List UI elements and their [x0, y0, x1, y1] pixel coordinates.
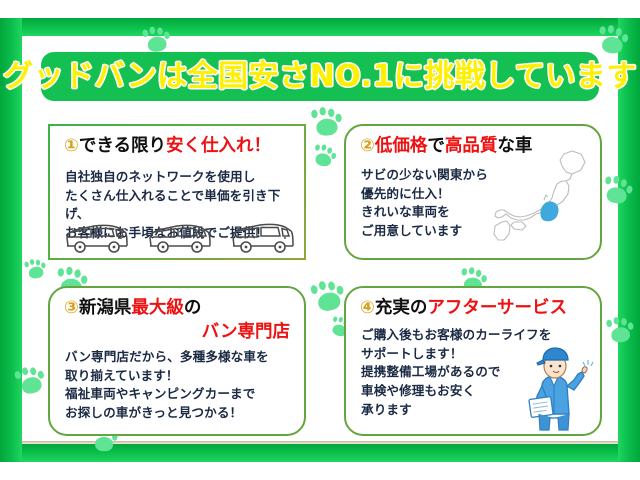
benefit-1-heading-part-2: 安く仕入れ！: [166, 136, 271, 156]
benefit-number-2: ②: [360, 136, 375, 156]
benefit-card-1-heading: ①できる限り安く仕入れ！: [64, 136, 296, 156]
benefit-3-heading-part-3: の: [184, 298, 202, 318]
van-icon: [64, 222, 130, 256]
cap-icon: [543, 348, 568, 360]
benefit-card-1: ①できる限り安く仕入れ！ 自社独自のネットワークを使用し たくさん仕入れることで…: [48, 124, 306, 260]
japan-map-icon: [486, 148, 594, 258]
benefit-3-heading-line2: バン専門店: [64, 322, 296, 342]
benefit-card-3-body: バン専門店だから、多種多様な車を 取り揃えています！ 福祉車両やキャンピングカー…: [65, 348, 296, 423]
vans-illustration: [64, 218, 296, 256]
benefit-4-heading-part-1: 充実の: [375, 298, 428, 318]
benefit-card-4: ④充実のアフターサービス ご購入後もお客様のカーライフを サポートします！ 提携…: [344, 286, 602, 436]
frame-top-bar: [0, 18, 640, 36]
benefit-2-heading-part-1: 低価格: [375, 136, 428, 156]
benefit-number-1: ①: [64, 136, 79, 156]
benefit-card-3: ③新潟県最大級の バン専門店 バン専門店だから、多種多様な車を 取り揃えています…: [48, 286, 306, 436]
benefit-card-3-heading: ③新潟県最大級の バン専門店: [64, 298, 296, 343]
benefit-number-3: ③: [64, 298, 79, 318]
page-title: グッドバンは全国安さNO.1に挑戦しています: [3, 62, 637, 92]
benefit-card-2: ②低価格で高品質な車 サビの少ない関東から 優先的に仕入！ きれいな車両を ご用…: [344, 124, 602, 260]
mechanic-illustration: [520, 340, 594, 432]
van-icon: [147, 222, 213, 256]
benefit-1-heading-part-1: できる限り: [79, 136, 166, 156]
benefit-4-heading-part-2: アフターサービス: [427, 298, 567, 318]
map-highlight-region: [541, 202, 558, 221]
benefit-number-4: ④: [360, 298, 375, 318]
benefit-3-heading-part-2: 最大級: [131, 298, 184, 318]
benefit-2-heading-part-2: で: [427, 136, 445, 156]
van-icon: [230, 222, 296, 256]
benefit-3-heading-part-1: 新潟県: [79, 298, 132, 318]
benefit-card-4-heading: ④充実のアフターサービス: [360, 298, 592, 318]
headline-banner: グッドバンは全国安さNO.1に挑戦しています: [41, 52, 599, 101]
promo-banner: グッドバンは全国安さNO.1に挑戦しています ①できる限り安く仕入れ！ 自社独自…: [0, 0, 640, 480]
